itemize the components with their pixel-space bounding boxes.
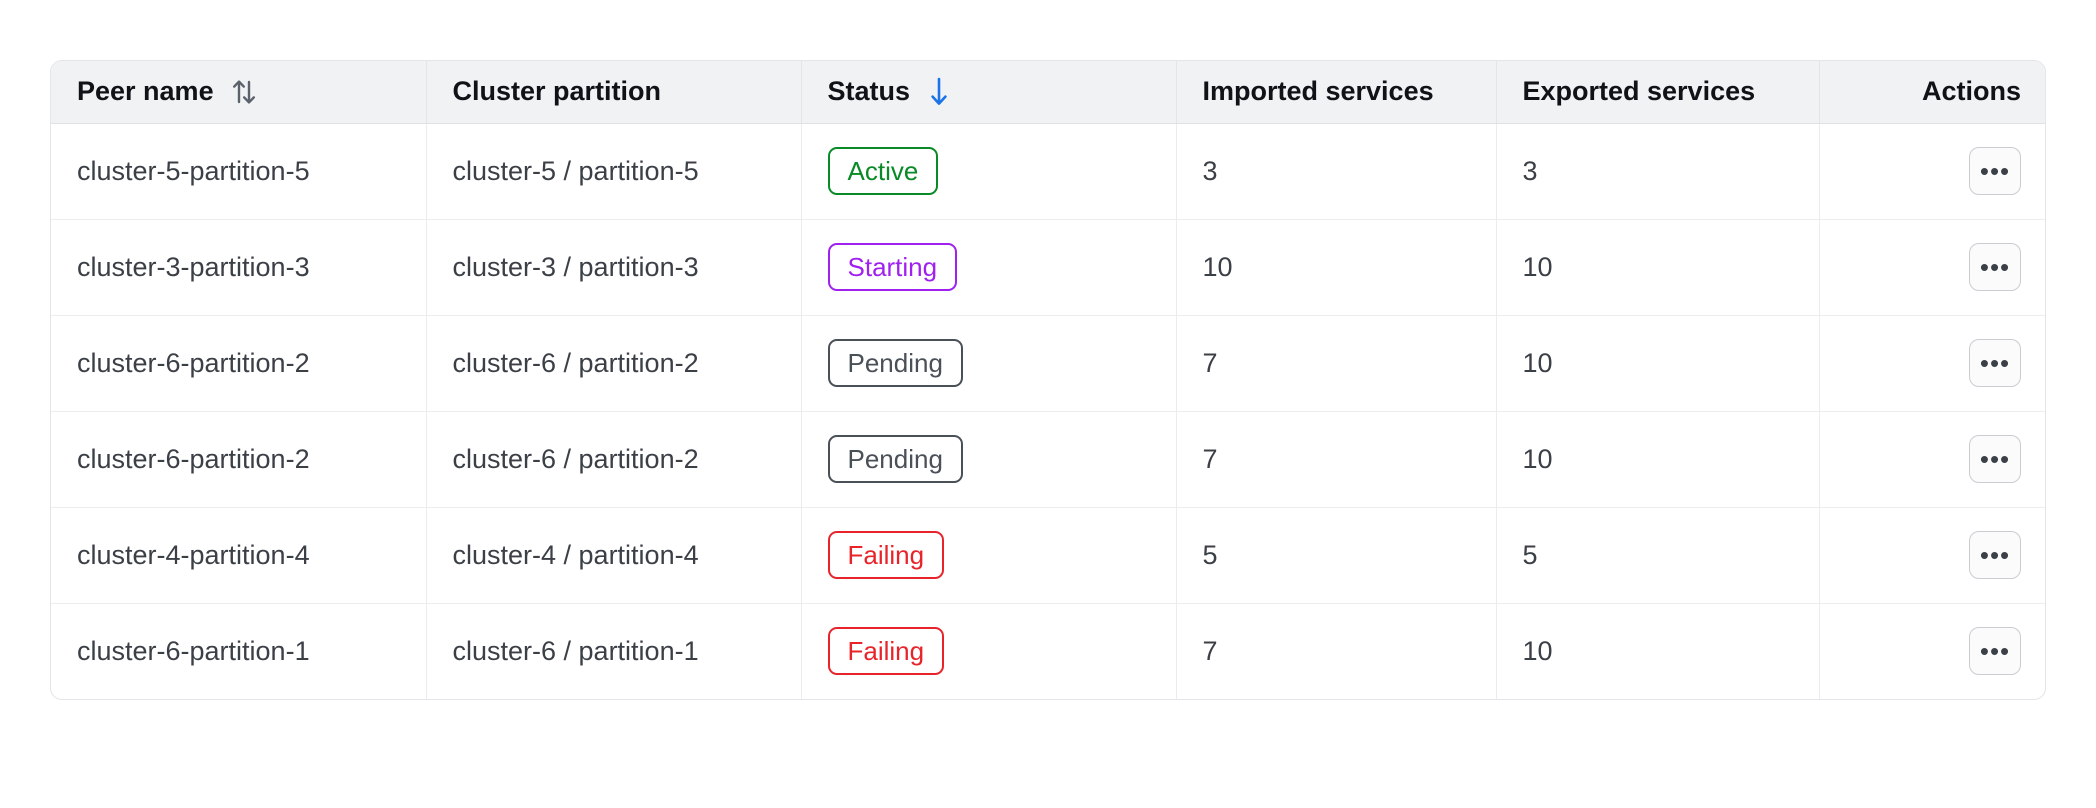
row-actions-button[interactable]: ••• bbox=[1969, 435, 2021, 483]
cell-exported-services: 10 bbox=[1496, 603, 1819, 699]
row-actions-button[interactable]: ••• bbox=[1969, 147, 2021, 195]
cell-imported-services: 7 bbox=[1176, 315, 1496, 411]
sort-updown-icon[interactable] bbox=[230, 76, 258, 108]
status-badge: Active bbox=[828, 147, 939, 195]
status-badge: Failing bbox=[828, 627, 945, 675]
column-header-peer-name[interactable]: Peer name bbox=[51, 61, 426, 123]
column-header-exported-services[interactable]: Exported services bbox=[1496, 61, 1819, 123]
ellipsis-icon: ••• bbox=[1980, 261, 2010, 273]
cell-status: Failing bbox=[801, 603, 1176, 699]
ellipsis-icon: ••• bbox=[1980, 645, 2010, 657]
table-row[interactable]: cluster-6-partition-2 cluster-6 / partit… bbox=[51, 315, 2046, 411]
column-header-imported-services[interactable]: Imported services bbox=[1176, 61, 1496, 123]
row-actions-button[interactable]: ••• bbox=[1969, 243, 2021, 291]
cell-exported-services: 5 bbox=[1496, 507, 1819, 603]
cell-peer-name: cluster-4-partition-4 bbox=[51, 507, 426, 603]
cell-peer-name: cluster-6-partition-1 bbox=[51, 603, 426, 699]
table-row[interactable]: cluster-6-partition-2 cluster-6 / partit… bbox=[51, 411, 2046, 507]
table-row[interactable]: cluster-5-partition-5 cluster-5 / partit… bbox=[51, 123, 2046, 219]
cell-peer-name: cluster-3-partition-3 bbox=[51, 219, 426, 315]
ellipsis-icon: ••• bbox=[1980, 357, 2010, 369]
cell-imported-services: 5 bbox=[1176, 507, 1496, 603]
ellipsis-icon: ••• bbox=[1980, 549, 2010, 561]
cell-exported-services: 10 bbox=[1496, 315, 1819, 411]
table-body: cluster-5-partition-5 cluster-5 / partit… bbox=[51, 123, 2046, 699]
cell-status: Active bbox=[801, 123, 1176, 219]
cell-exported-services: 3 bbox=[1496, 123, 1819, 219]
arrow-down-icon[interactable] bbox=[926, 75, 952, 109]
cell-actions: ••• bbox=[1819, 603, 2046, 699]
header-row: Peer name bbox=[51, 61, 2046, 123]
column-header-label: Cluster partition bbox=[453, 76, 662, 107]
cell-imported-services: 7 bbox=[1176, 603, 1496, 699]
column-header-actions: Actions bbox=[1819, 61, 2046, 123]
row-actions-button[interactable]: ••• bbox=[1969, 339, 2021, 387]
cell-status: Pending bbox=[801, 411, 1176, 507]
cell-peer-name: cluster-6-partition-2 bbox=[51, 315, 426, 411]
cell-imported-services: 10 bbox=[1176, 219, 1496, 315]
table-row[interactable]: cluster-6-partition-1 cluster-6 / partit… bbox=[51, 603, 2046, 699]
column-header-label: Imported services bbox=[1203, 76, 1434, 107]
column-header-status[interactable]: Status bbox=[801, 61, 1176, 123]
status-badge: Starting bbox=[828, 243, 958, 291]
cell-cluster-partition: cluster-5 / partition-5 bbox=[426, 123, 801, 219]
cell-status: Pending bbox=[801, 315, 1176, 411]
cell-status: Failing bbox=[801, 507, 1176, 603]
row-actions-button[interactable]: ••• bbox=[1969, 627, 2021, 675]
cell-imported-services: 7 bbox=[1176, 411, 1496, 507]
cell-imported-services: 3 bbox=[1176, 123, 1496, 219]
status-badge: Failing bbox=[828, 531, 945, 579]
column-header-label: Actions bbox=[1922, 76, 2021, 107]
row-actions-button[interactable]: ••• bbox=[1969, 531, 2021, 579]
table-header: Peer name bbox=[51, 61, 2046, 123]
peers-table: Peer name bbox=[51, 61, 2046, 699]
cell-cluster-partition: cluster-6 / partition-2 bbox=[426, 411, 801, 507]
cell-actions: ••• bbox=[1819, 219, 2046, 315]
ellipsis-icon: ••• bbox=[1980, 165, 2010, 177]
cell-exported-services: 10 bbox=[1496, 411, 1819, 507]
cell-status: Starting bbox=[801, 219, 1176, 315]
cell-actions: ••• bbox=[1819, 411, 2046, 507]
table-row[interactable]: cluster-3-partition-3 cluster-3 / partit… bbox=[51, 219, 2046, 315]
column-header-label: Status bbox=[828, 76, 911, 107]
cell-actions: ••• bbox=[1819, 123, 2046, 219]
cell-actions: ••• bbox=[1819, 315, 2046, 411]
status-badge: Pending bbox=[828, 435, 963, 483]
cell-cluster-partition: cluster-6 / partition-1 bbox=[426, 603, 801, 699]
cell-exported-services: 10 bbox=[1496, 219, 1819, 315]
cell-cluster-partition: cluster-4 / partition-4 bbox=[426, 507, 801, 603]
cell-peer-name: cluster-6-partition-2 bbox=[51, 411, 426, 507]
cell-cluster-partition: cluster-6 / partition-2 bbox=[426, 315, 801, 411]
status-badge: Pending bbox=[828, 339, 963, 387]
peers-table-container: Peer name bbox=[50, 60, 2046, 700]
column-header-cluster-partition[interactable]: Cluster partition bbox=[426, 61, 801, 123]
column-header-label: Peer name bbox=[77, 76, 214, 107]
cell-cluster-partition: cluster-3 / partition-3 bbox=[426, 219, 801, 315]
cell-actions: ••• bbox=[1819, 507, 2046, 603]
ellipsis-icon: ••• bbox=[1980, 453, 2010, 465]
page-root: Peer name bbox=[0, 0, 2096, 808]
column-header-label: Exported services bbox=[1523, 76, 1756, 107]
table-row[interactable]: cluster-4-partition-4 cluster-4 / partit… bbox=[51, 507, 2046, 603]
cell-peer-name: cluster-5-partition-5 bbox=[51, 123, 426, 219]
